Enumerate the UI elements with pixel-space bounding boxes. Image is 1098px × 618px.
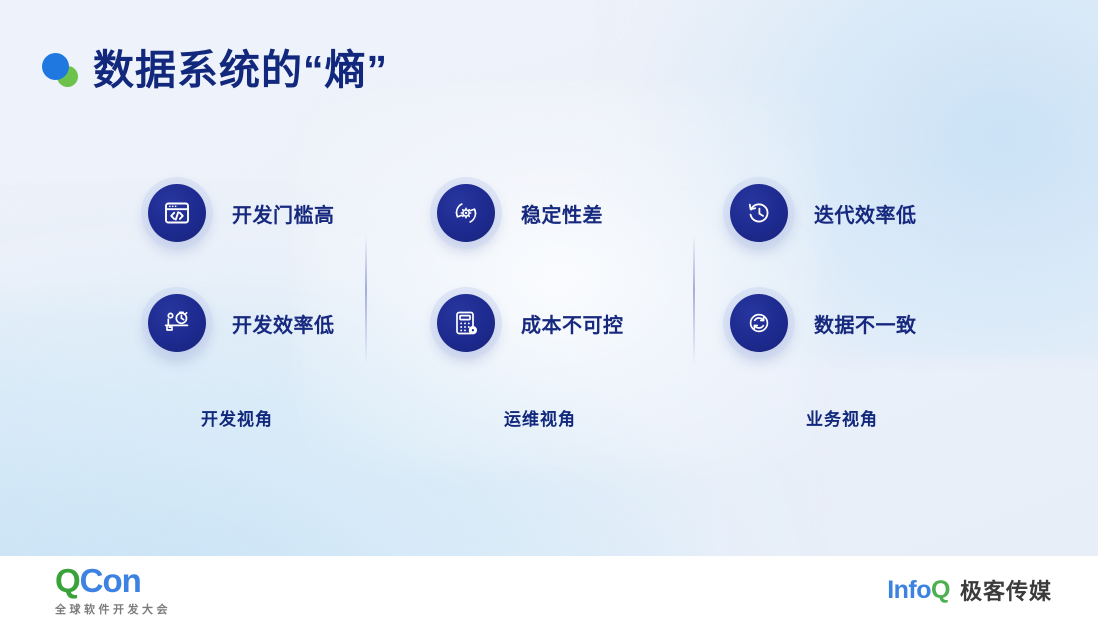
item-label: 开发效率低 [232,309,335,338]
qcon-letter-q: Q [55,562,80,599]
code-window-icon [148,184,206,242]
infoq-wordmark: InfoQ [887,578,950,603]
column-operations: 稳定性差 [437,150,767,450]
calculator-icon [437,294,495,352]
infoq-logo: InfoQ 极客传媒 [887,574,1052,606]
logo-dot-blue-icon [42,53,69,80]
column-development: 开发门槛高 开 [148,150,478,450]
qcon-subtitle: 全球软件开发大会 [55,601,171,617]
item-cost-control: 成本不可控 [437,292,624,354]
gear-sync-icon [437,184,495,242]
person-desk-stopwatch-icon [148,294,206,352]
qcon-logo: QCon 全球软件开发大会 [55,564,171,617]
qcon-letters-con: Con [80,562,141,599]
circular-sync-icon [730,294,788,352]
column-caption-business: 业务视角 [806,405,878,430]
item-dev-barrier: 开发门槛高 [148,182,335,244]
slide-header: 数据系统的“熵” [41,41,388,99]
item-iteration-efficiency: 迭代效率低 [730,182,917,244]
column-caption-operations: 运维视角 [504,405,576,430]
qcon-wordmark: QCon [55,564,171,597]
two-dots-logo-icon [41,51,79,89]
item-data-inconsistency: 数据不一致 [730,292,917,354]
infoq-letter-q: Q [931,576,950,604]
item-stability: 稳定性差 [437,182,603,244]
item-label: 稳定性差 [521,199,603,228]
column-business: 迭代效率低 数据不一致 [730,150,1060,450]
item-dev-efficiency: 开发效率低 [148,292,335,354]
item-label: 开发门槛高 [232,199,335,228]
infoq-letters-info: Info [887,576,931,604]
page-title: 数据系统的“熵” [93,50,388,91]
slide-canvas: 数据系统的“熵” [0,0,1098,618]
column-caption-development: 开发视角 [201,405,273,430]
infoq-subtitle: 极客传媒 [960,574,1052,606]
item-label: 数据不一致 [814,309,917,338]
clock-history-icon [730,184,788,242]
item-label: 迭代效率低 [814,199,917,228]
slide-footer: QCon 全球软件开发大会 InfoQ 极客传媒 [0,556,1098,618]
item-label: 成本不可控 [521,309,624,338]
